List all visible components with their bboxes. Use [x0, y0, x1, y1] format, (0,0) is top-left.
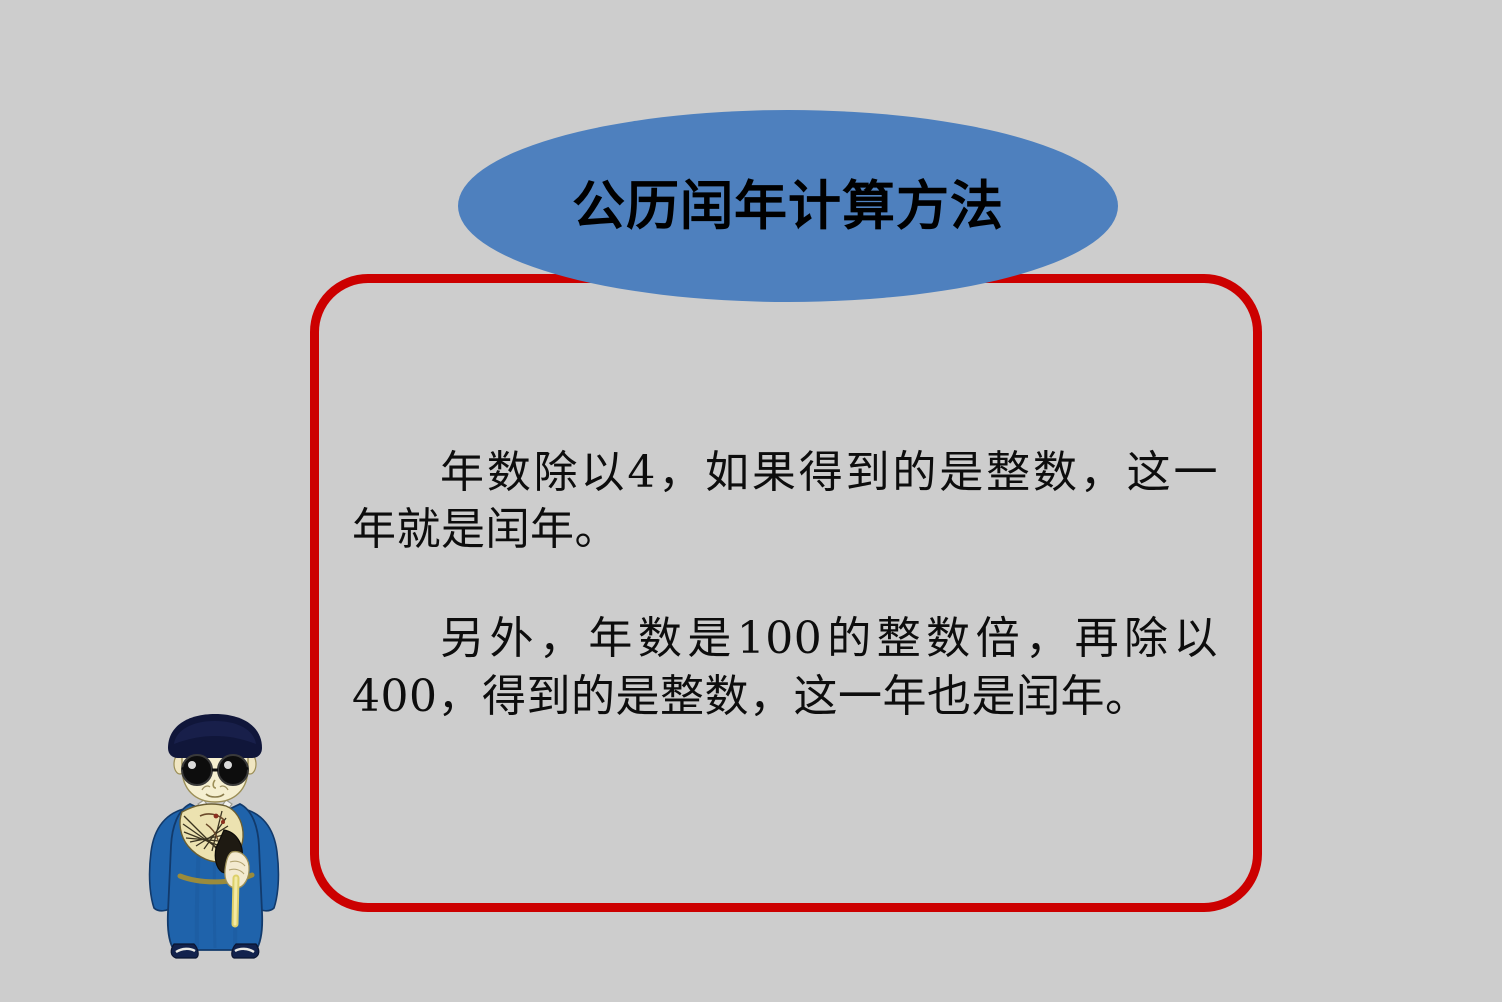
tassel: [235, 878, 236, 924]
body-text-block: 年数除以4，如果得到的是整数，这一年就是闰年。 另外，年数是100的整数倍，再除…: [352, 444, 1218, 725]
sunglasses-right-lens: [218, 755, 248, 785]
cartoon-scholar-icon: [140, 712, 290, 960]
body-paragraph-1: 年数除以4，如果得到的是整数，这一年就是闰年。: [352, 444, 1218, 558]
head-group: [168, 714, 262, 802]
body-paragraph-2: 另外，年数是100的整数倍，再除以400，得到的是整数，这一年也是闰年。: [352, 610, 1218, 724]
page-title: 公历闰年计算方法: [458, 110, 1118, 302]
sunglasses-left-lens: [182, 755, 212, 785]
title-ellipse: 公历闰年计算方法: [458, 110, 1118, 302]
cartoon-scholar-figure: [140, 712, 290, 960]
slide-canvas: 公历闰年计算方法 年数除以4，如果得到的是整数，这一年就是闰年。 另外，年数是1…: [0, 0, 1502, 1002]
